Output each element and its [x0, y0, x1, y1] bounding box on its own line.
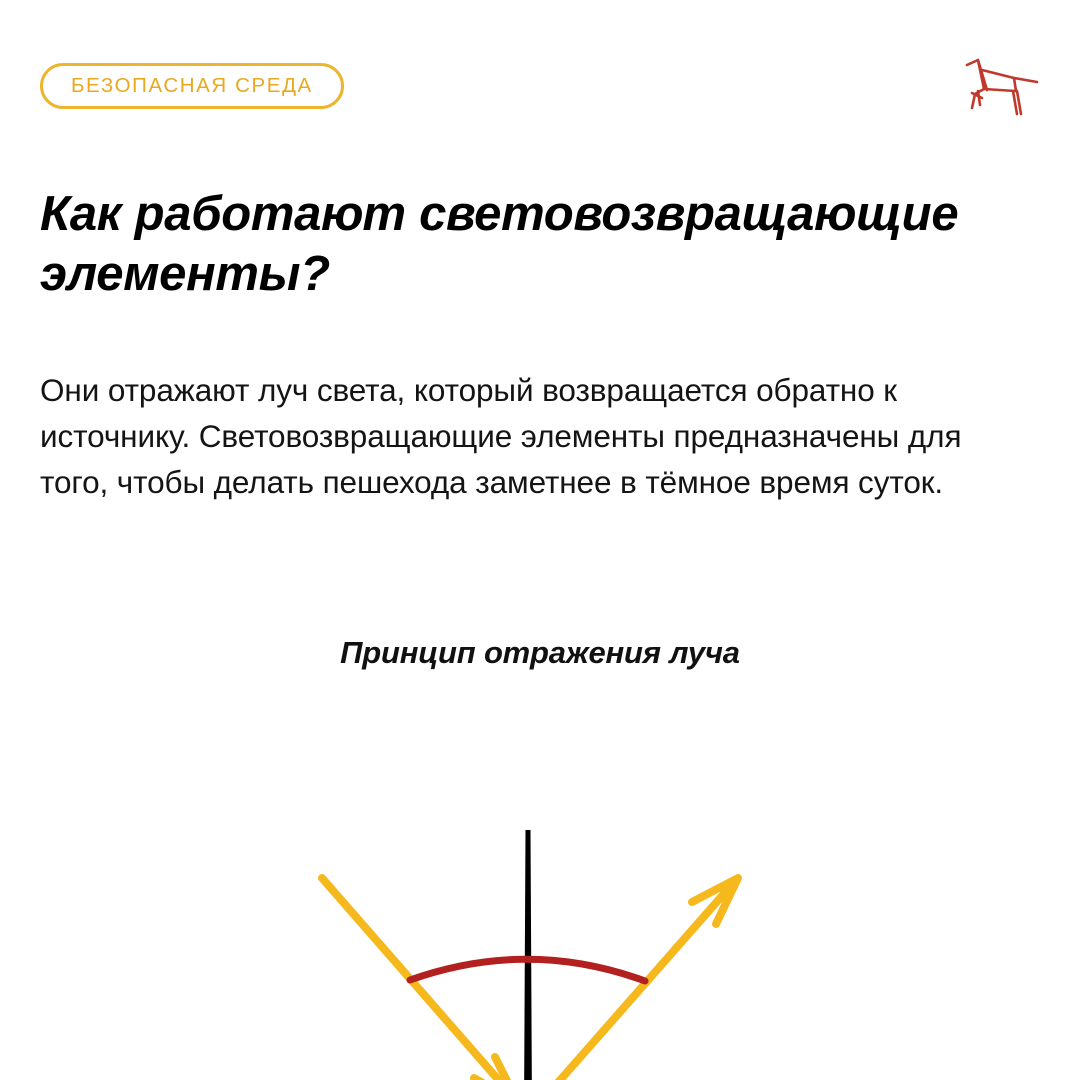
poster-page: БЕЗОПАСНАЯ СРЕДА: [0, 0, 1080, 1080]
reflection-diagram: Принцип отражения луча: [0, 600, 1080, 1080]
category-badge-label: БЕЗОПАСНАЯ СРЕДА: [71, 76, 313, 97]
page-title: Как работают световозвращающие элементы?: [40, 185, 1040, 305]
diagram-caption: Принцип отражения луча: [0, 635, 1080, 671]
page-header: БЕЗОПАСНАЯ СРЕДА: [0, 0, 1080, 140]
body-paragraph: Они отражают луч света, который возвраща…: [40, 368, 1030, 506]
vertical-normal-line: [524, 830, 532, 1080]
reflection-diagram-svg: [0, 700, 1080, 1080]
horse-line-art-icon: [958, 48, 1044, 120]
category-badge: БЕЗОПАСНАЯ СРЕДА: [40, 63, 344, 109]
